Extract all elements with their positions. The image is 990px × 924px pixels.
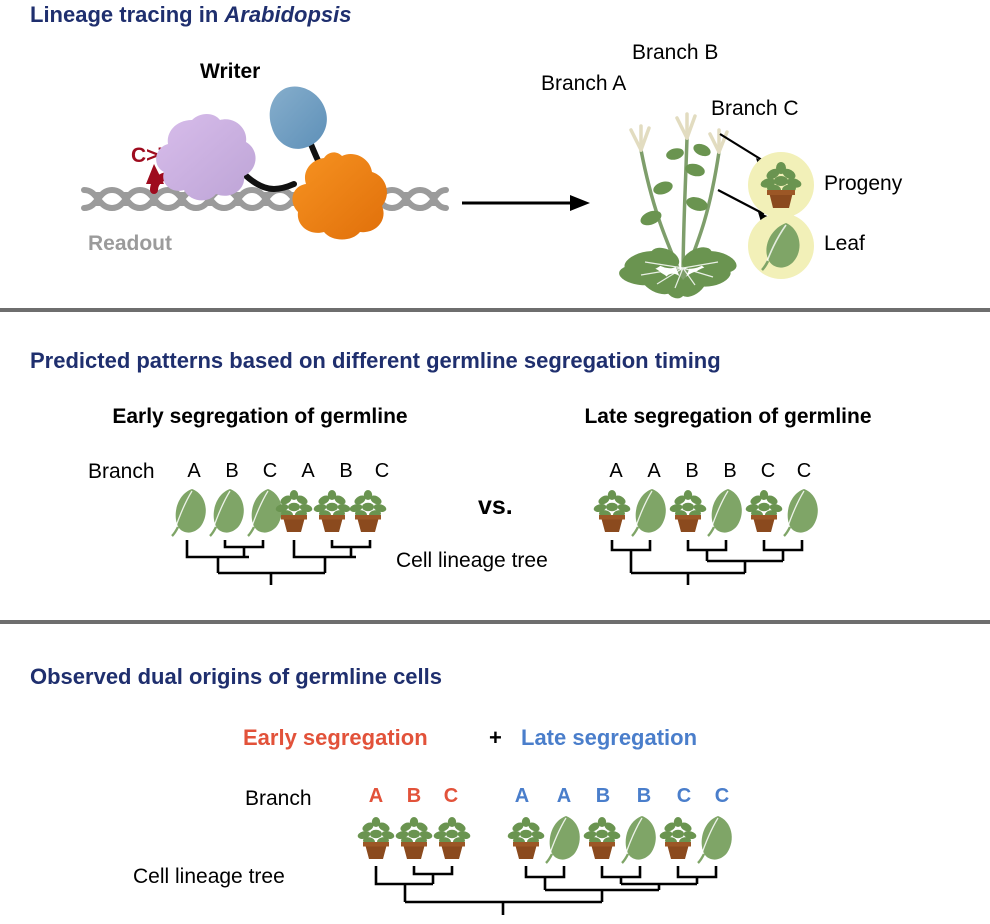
early-tip-label-2: C (256, 460, 284, 483)
writer-complex-dna-diagram (80, 80, 460, 250)
adaptor-blob (270, 86, 327, 148)
observed-early-tip-label-2: C (437, 785, 465, 808)
early-tip-label-3: A (294, 460, 322, 483)
cell-lineage-tree-caption-observed: Cell lineage tree (133, 865, 285, 889)
panel-observed-dual-origins: Observed dual origins of germline cells … (0, 624, 990, 915)
process-arrow-icon (462, 190, 590, 216)
panel-lineage-tracing-title: Lineage tracing in Arabidopsis (30, 2, 352, 28)
late-tip-label-3: B (716, 460, 744, 483)
panel-observed-dual-origins-title: Observed dual origins of germline cells (30, 664, 442, 690)
observed-early-tip-label-0: A (362, 785, 390, 808)
leaf-icon (748, 213, 814, 279)
deaminase-blob (156, 114, 255, 200)
observed-early-tip-label-1: B (400, 785, 428, 808)
leaf-label: Leaf (824, 232, 865, 256)
title-text-italic: Arabidopsis (224, 2, 351, 27)
branch-caption-early: Branch (88, 460, 155, 484)
late-tip-label-4: C (754, 460, 782, 483)
early-segregation-tips-and-tree (170, 487, 420, 597)
observed-late-tip-label-2: B (589, 785, 617, 808)
observed-late-tip-label-3: B (630, 785, 658, 808)
panel-lineage-tracing: Lineage tracing in Arabidopsis Writer C>… (0, 0, 990, 308)
late-tip-label-5: C (790, 460, 818, 483)
observed-late-tip-label-4: C (670, 785, 698, 808)
late-tip-label-1: A (640, 460, 668, 483)
cell-lineage-tree-caption: Cell lineage tree (396, 549, 548, 573)
late-tip-label-2: B (678, 460, 706, 483)
legend-late-segregation: Late segregation (521, 725, 697, 751)
late-segregation-tips-and-tree (592, 487, 842, 597)
early-tip-label-4: B (332, 460, 360, 483)
early-tip-label-0: A (180, 460, 208, 483)
branch-caption-observed: Branch (245, 787, 312, 811)
early-tip-label-1: B (218, 460, 246, 483)
observed-late-tip-label-1: A (550, 785, 578, 808)
late-segregation-heading: Late segregation of germline (528, 405, 928, 429)
title-text-plain: Lineage tracing in (30, 2, 224, 27)
early-tip-label-5: C (368, 460, 396, 483)
late-tip-label-0: A (602, 460, 630, 483)
observed-late-tip-label-5: C (708, 785, 736, 808)
comparison-operator: vs. (478, 492, 513, 521)
potted-plant-icon (748, 152, 814, 218)
early-segregation-heading: Early segregation of germline (60, 405, 460, 429)
progeny-sample-circle (748, 152, 814, 218)
legend-plus-sign: + (489, 725, 502, 751)
cas-blob (292, 152, 387, 239)
observed-dual-origins-tips-and-tree (350, 814, 750, 924)
branch-b-label: Branch B (632, 41, 718, 65)
panel-predicted-patterns-title: Predicted patterns based on different ge… (30, 348, 721, 374)
observed-late-tip-label-0: A (508, 785, 536, 808)
progeny-label: Progeny (824, 172, 902, 196)
legend-early-segregation: Early segregation (243, 725, 428, 751)
panel-predicted-patterns: Predicted patterns based on different ge… (0, 312, 990, 618)
leaf-sample-circle (748, 213, 814, 279)
